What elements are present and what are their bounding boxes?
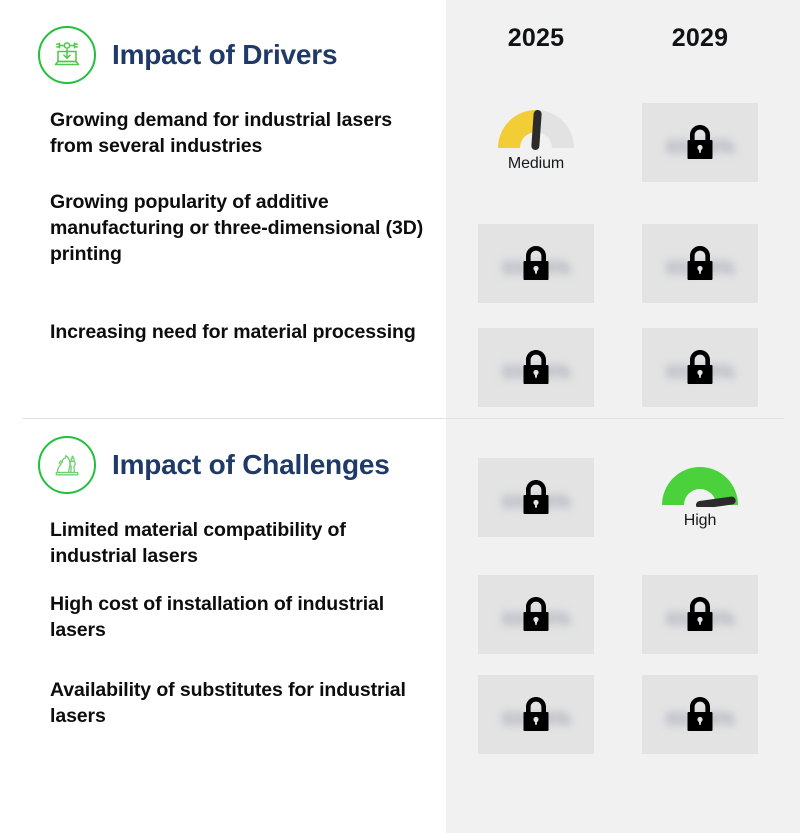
gauge-label-high: High: [640, 512, 760, 530]
locked-value-tile[interactable]: XX.XX%: [478, 458, 594, 537]
section-title-text: Impact of Drivers: [112, 39, 337, 71]
challenge-item-2-value-2025[interactable]: XX.XX%: [476, 575, 596, 654]
locked-value-tile[interactable]: XX.XX%: [642, 575, 758, 654]
driver-item-3-value-2025[interactable]: XX.XX%: [476, 328, 596, 407]
locked-value-tile[interactable]: XX.XX%: [642, 103, 758, 182]
column-header-2025: 2025: [476, 24, 596, 53]
challenge-item-3-value-2029[interactable]: XX.XX%: [640, 675, 760, 754]
driver-item-3-text: Increasing need for material processing: [50, 320, 432, 346]
challenge-item-3-text: Availability of substitutes for industri…: [50, 678, 432, 730]
driver-item-2-value-2025[interactable]: XX.XX%: [476, 224, 596, 303]
impact-matrix-infographic: 2025 2029 Impact of Drivers Growing dema…: [0, 0, 800, 833]
lock-icon: [517, 693, 555, 737]
section-header-drivers: Impact of Drivers: [38, 26, 337, 84]
challenge-item-1-value-2029[interactable]: High: [640, 463, 760, 530]
lock-icon: [681, 121, 719, 165]
lock-icon: [681, 593, 719, 637]
locked-value-tile[interactable]: XX.XX%: [478, 224, 594, 303]
challenge-item-3-value-2025[interactable]: XX.XX%: [476, 675, 596, 754]
section-header-challenges: Impact of Challenges: [38, 436, 390, 494]
gauge-medium-icon: [494, 106, 578, 150]
column-header-2029: 2029: [640, 24, 760, 53]
locked-value-tile[interactable]: XX.XX%: [478, 675, 594, 754]
challenge-item-2-value-2029[interactable]: XX.XX%: [640, 575, 760, 654]
challenge-item-2-text: High cost of installation of industrial …: [50, 592, 432, 644]
locked-value-tile[interactable]: XX.XX%: [478, 575, 594, 654]
driver-item-1-value-2025[interactable]: Medium: [476, 106, 596, 173]
lock-icon: [681, 693, 719, 737]
locked-value-tile[interactable]: XX.XX%: [642, 675, 758, 754]
gauge-high-icon: [658, 463, 742, 507]
lock-icon: [517, 476, 555, 520]
chess-pieces-icon: [38, 436, 96, 494]
driver-item-2-text: Growing popularity of additive manufactu…: [50, 190, 432, 268]
lock-icon: [517, 242, 555, 286]
challenge-item-1-text: Limited material compatibility of indust…: [50, 518, 432, 570]
driver-item-2-value-2029[interactable]: XX.XX%: [640, 224, 760, 303]
section-title-text: Impact of Challenges: [112, 449, 390, 481]
driver-item-1-value-2029[interactable]: XX.XX%: [640, 103, 760, 182]
laser-press-icon: [38, 26, 96, 84]
locked-value-tile[interactable]: XX.XX%: [642, 224, 758, 303]
lock-icon: [681, 242, 719, 286]
gauge-label-medium: Medium: [476, 155, 596, 173]
challenge-item-1-value-2025[interactable]: XX.XX%: [476, 458, 596, 537]
locked-value-tile[interactable]: XX.XX%: [642, 328, 758, 407]
driver-item-3-value-2029[interactable]: XX.XX%: [640, 328, 760, 407]
lock-icon: [517, 346, 555, 390]
section-divider: [22, 418, 784, 419]
driver-item-1-text: Growing demand for industrial lasers fro…: [50, 108, 432, 160]
lock-icon: [517, 593, 555, 637]
locked-value-tile[interactable]: XX.XX%: [478, 328, 594, 407]
lock-icon: [681, 346, 719, 390]
